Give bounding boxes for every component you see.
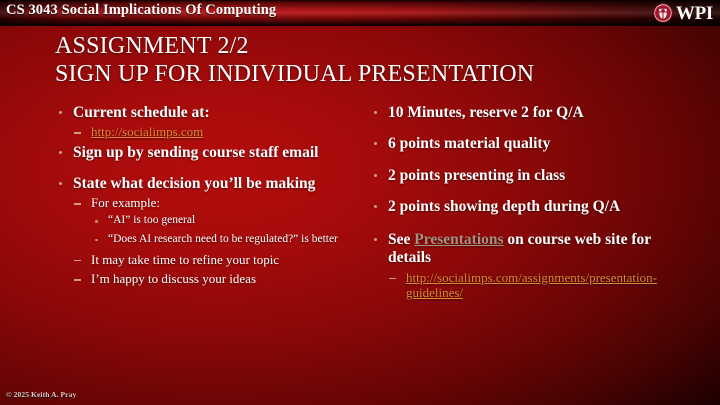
bullet-text: 2 points showing depth during Q/A (388, 198, 620, 215)
bullet-item: Current schedule at: http://socialimps.c… (57, 104, 362, 140)
bullet-list-level3: “AI” is too general “Does AI research ne… (91, 214, 362, 247)
bullet-text: 10 Minutes, reserve 2 for Q/A (388, 104, 584, 121)
bullet-item: 6 points material quality (372, 135, 672, 153)
bullet-item: Sign up by sending course staff email (57, 144, 362, 162)
bullet-list-level2: http://socialimps.com/assignments/presen… (388, 270, 672, 301)
bullet-text: I’m happy to discuss your ideas (91, 271, 256, 286)
slide-title-line-2: SIGN UP FOR INDIVIDUAL PRESENTATION (55, 61, 665, 89)
bullet-text: Sign up by sending course staff email (73, 144, 318, 161)
wpi-seal-icon (653, 3, 673, 23)
bullet-list-right-level1: 10 Minutes, reserve 2 for Q/A 6 points m… (372, 104, 672, 301)
bullet-list-left-level1: Current schedule at: http://socialimps.c… (57, 104, 362, 287)
bullet-text: “AI” is too general (108, 214, 195, 226)
bullet-item: 10 Minutes, reserve 2 for Q/A (372, 104, 672, 122)
bullet-item: “AI” is too general (91, 214, 362, 228)
bullet-item: I’m happy to discuss your ideas (73, 271, 362, 287)
wpi-logo: WPI (653, 1, 713, 25)
wpi-wordmark: WPI (676, 4, 713, 23)
bullet-text: Current schedule at: (73, 104, 210, 121)
content-column-left: Current schedule at: http://socialimps.c… (57, 104, 362, 296)
bullet-item: It may take time to refine your topic (73, 252, 362, 268)
link-presentations[interactable]: Presentations (414, 231, 503, 248)
bullet-text: 6 points material quality (388, 135, 550, 152)
bullet-item: 2 points showing depth during Q/A (372, 198, 672, 216)
bullet-item: State what decision you’ll be making For… (57, 175, 362, 287)
link-presentation-guidelines[interactable]: http://socialimps.com/assignments/presen… (406, 270, 657, 301)
bullet-text: 2 points presenting in class (388, 167, 565, 184)
bullet-item: See Presentations on course web site for… (372, 231, 672, 301)
link-socialimps-home[interactable]: http://socialimps.com (91, 124, 203, 139)
bullet-item: http://socialimps.com/assignments/presen… (388, 270, 672, 301)
bullet-item: http://socialimps.com (73, 124, 362, 140)
bullet-item: For example: “AI” is too general “Does A… (73, 195, 362, 246)
copyright-footer: © 2025 Keith A. Pray (6, 390, 76, 399)
bullet-text: State what decision you’ll be making (73, 175, 315, 192)
bullet-list-level2: http://socialimps.com (73, 124, 362, 140)
bullet-item: 2 points presenting in class (372, 167, 672, 185)
content-column-right: 10 Minutes, reserve 2 for Q/A 6 points m… (372, 104, 672, 305)
slide-title-line-1: ASSIGNMENT 2/2 (55, 33, 665, 61)
slide-header-bar: CS 3043 Social Implications Of Computing… (0, 0, 720, 26)
bullet-item: “Does AI research need to be regulated?”… (91, 233, 362, 247)
bullet-list-level2: For example: “AI” is too general “Does A… (73, 195, 362, 286)
slide-canvas: CS 3043 Social Implications Of Computing… (0, 0, 720, 405)
bullet-text: “Does AI research need to be regulated?”… (108, 233, 338, 245)
course-title: CS 3043 Social Implications Of Computing (6, 2, 276, 19)
bullet-text: For example: (91, 195, 160, 210)
bullet-text-before: See (388, 231, 414, 248)
slide-title: ASSIGNMENT 2/2 SIGN UP FOR INDIVIDUAL PR… (55, 33, 665, 88)
bullet-text: It may take time to refine your topic (91, 252, 279, 267)
